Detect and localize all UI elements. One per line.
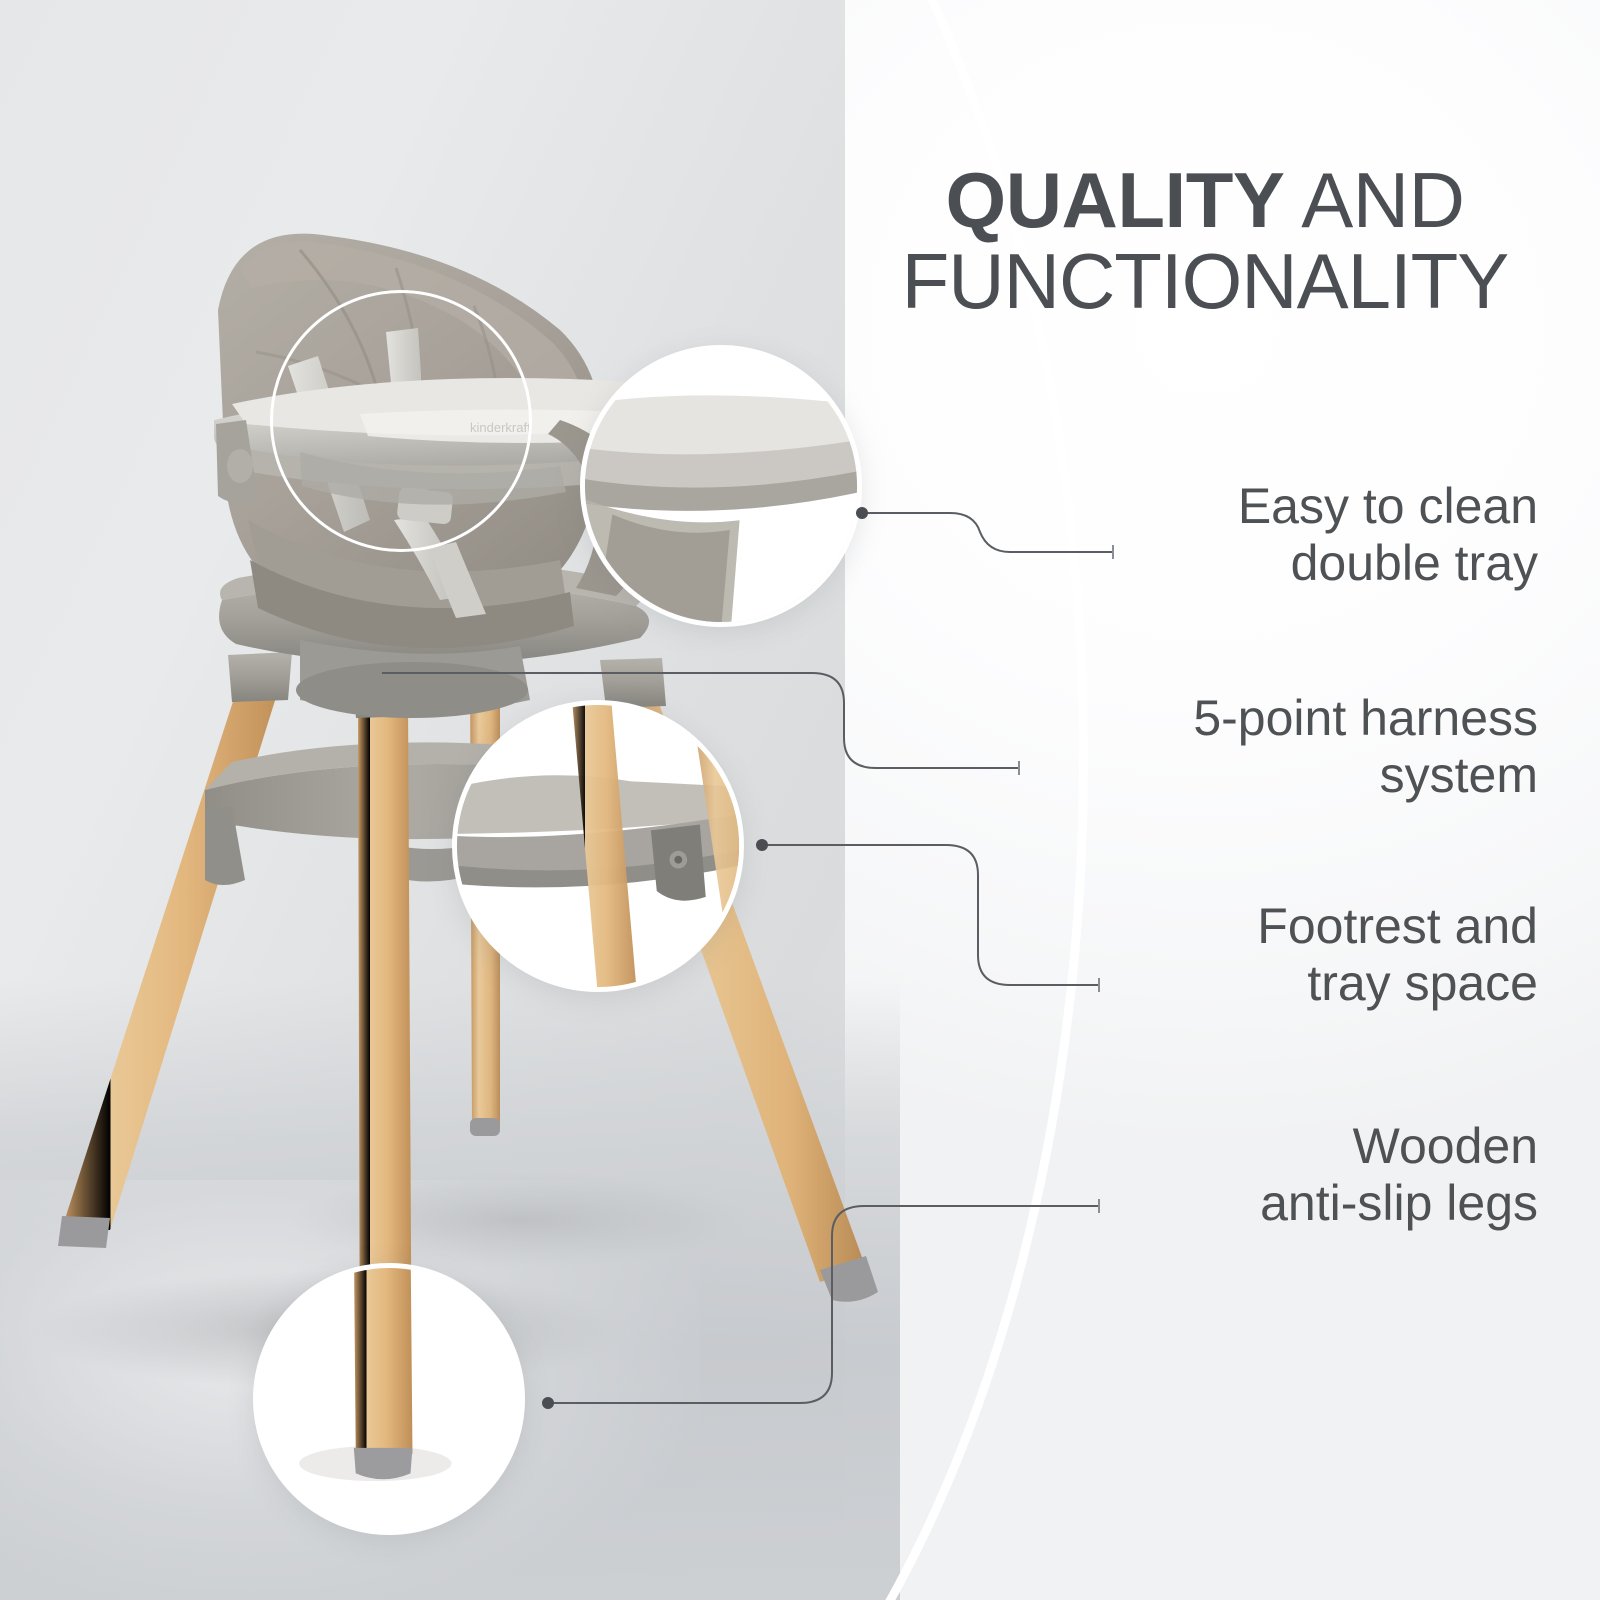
feature-line-1: 5-point harness xyxy=(1118,690,1538,747)
headline-rest-word: AND xyxy=(1284,156,1464,244)
harness-zoom-circle xyxy=(270,290,532,552)
feature-line-2: system xyxy=(1118,747,1538,804)
headline-bold-word: QUALITY xyxy=(946,156,1285,244)
leg-zoom-circle xyxy=(253,1263,525,1535)
floor-shadow-2 xyxy=(290,1172,750,1268)
feature-line-1: Wooden xyxy=(1118,1118,1538,1175)
chair-leg-back-left xyxy=(58,652,292,1248)
tray-zoom-content xyxy=(583,348,859,624)
feature-label-easy-clean-tray: Easy to clean double tray xyxy=(1118,478,1538,592)
feature-line-2: double tray xyxy=(1118,535,1538,592)
feature-label-wooden-legs: Wooden anti-slip legs xyxy=(1118,1118,1538,1232)
feature-line-2: tray space xyxy=(1118,955,1538,1012)
leg-zoom-content xyxy=(256,1266,522,1532)
infographic-canvas: kinderkraft xyxy=(0,0,1600,1600)
headline-line-1: QUALITY AND xyxy=(860,160,1550,241)
headline: QUALITY AND FUNCTIONALITY xyxy=(860,160,1550,322)
footrest-zoom-circle xyxy=(452,700,744,992)
feature-line-2: anti-slip legs xyxy=(1118,1175,1538,1232)
feature-line-1: Easy to clean xyxy=(1118,478,1538,535)
headline-line-2: FUNCTIONALITY xyxy=(860,241,1550,322)
tray-zoom-circle xyxy=(580,345,862,627)
footrest-zoom-content xyxy=(455,703,741,989)
feature-line-1: Footrest and xyxy=(1118,898,1538,955)
feature-label-footrest: Footrest and tray space xyxy=(1118,898,1538,1012)
feature-label-harness: 5-point harness system xyxy=(1118,690,1538,804)
